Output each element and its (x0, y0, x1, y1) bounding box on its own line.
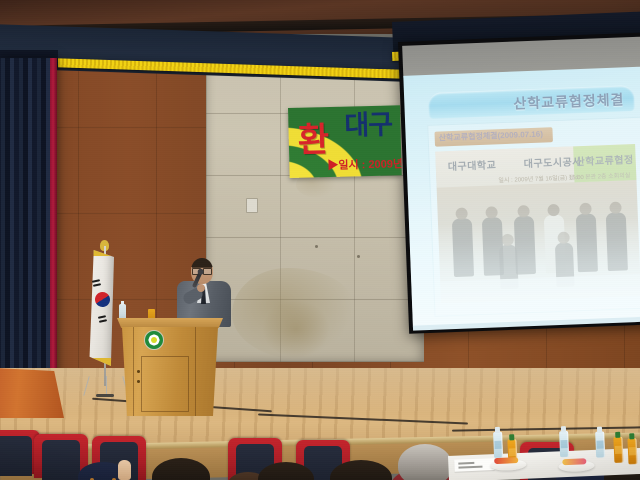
slide-body: 산학교류협정체결(2009.07.16) 대구대학교 대구도시공사 산학교류협정… (427, 117, 640, 317)
podium-button (137, 370, 140, 373)
water-bottle-icon (559, 431, 569, 457)
wall-mark (357, 255, 360, 258)
stage-side-woodwork (0, 368, 64, 418)
paper-cup-icon (148, 309, 155, 319)
photo-backdrop-banner: 대구대학교 대구도시공사 산학교류협정 일시 : 2009년 7월 16일(금)… (435, 144, 636, 188)
projection-screen: 산학교류협정체결 산학교류협정체결(2009.07.16) 대구대학교 대구도시… (398, 32, 640, 333)
photo-org-left: 대구대학교 (447, 156, 496, 173)
podium-button (137, 380, 140, 383)
wall-outlet-icon (246, 198, 258, 213)
banner-daegu-text: 대구 (344, 111, 392, 139)
photo-org-right: 대구도시공사 (523, 153, 582, 170)
slide-photo: 대구대학교 대구도시공사 산학교류협정 일시 : 2009년 7월 16일(금)… (435, 144, 640, 304)
food-item (562, 458, 586, 465)
screen-surface: 산학교류협정체결 산학교류협정체결(2009.07.16) 대구대학교 대구도시… (403, 66, 640, 327)
juice-bottle-icon (627, 438, 637, 464)
slide-subtitle-bar: 산학교류협정체결(2009.07.16) (434, 127, 552, 147)
audience-head-gray (398, 444, 452, 480)
water-bottle-icon (493, 432, 503, 458)
water-bottle-icon (595, 431, 605, 457)
banner-welcome-char: 환 (297, 123, 329, 158)
welcome-banner: 환 대구 ▶일시 : 2009년 (288, 105, 402, 178)
flag-base (96, 394, 114, 397)
audience-hand (118, 460, 131, 480)
speaker-person (175, 258, 233, 326)
photo-person (576, 214, 598, 273)
photo-person (452, 218, 474, 277)
podium (117, 318, 223, 416)
podium-panel-line (133, 327, 134, 416)
photo-person (606, 212, 628, 271)
slide-subtitle-text: 산학교류협정체결(2009.07.16) (439, 129, 544, 144)
podium-panel-line (195, 327, 196, 416)
handout-paper (454, 458, 494, 472)
banner-date-text: ▶일시 : 2009년 (327, 155, 401, 173)
slide-title-bar: 산학교류협정체결 (428, 85, 635, 119)
curtain-trim (50, 58, 57, 388)
auditorium-photo: 산학교류협정체결 산학교류협정체결(2009.07.16) 대구대학교 대구도시… (0, 0, 640, 480)
speaker-hand (197, 284, 205, 292)
food-item (494, 457, 518, 464)
photo-signing-table (440, 274, 640, 304)
wall-mark (315, 245, 318, 248)
podium-emblem-icon (144, 330, 164, 350)
slide-title-text: 산학교류협정체결 (513, 89, 625, 113)
juice-bottle-icon (613, 437, 623, 463)
photo-headline-right: 산학교류협정 (575, 151, 634, 168)
podium-front-inset (141, 356, 189, 412)
stage-curtain (0, 58, 54, 390)
water-bottle-icon (119, 304, 126, 320)
audience-head (152, 458, 210, 480)
